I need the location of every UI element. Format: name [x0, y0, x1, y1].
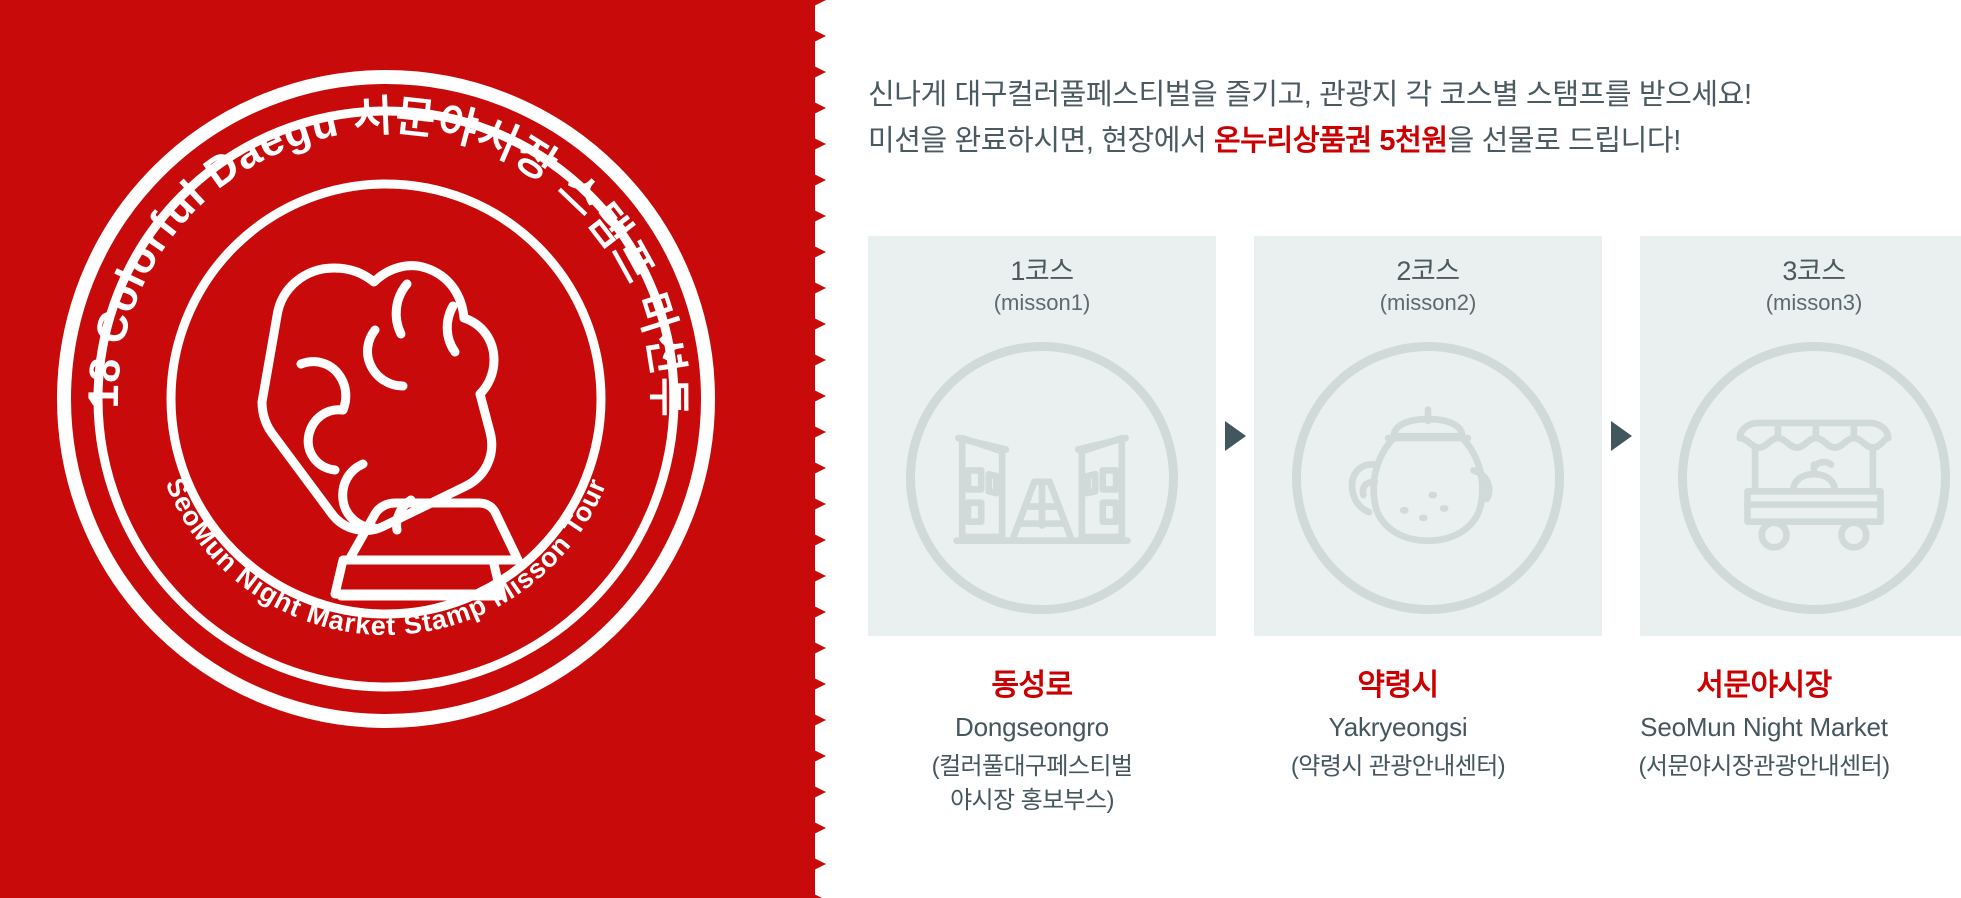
- course-3-labels: 서문야시장 SeoMun Night Market (서문야시장관광안내센터): [1600, 664, 1928, 784]
- zigzag-tooth: [790, 342, 826, 378]
- zigzag-tooth: [790, 126, 826, 162]
- course-2-location: (약령시 관광안내센터): [1234, 750, 1562, 784]
- zigzag-tooth: [790, 450, 826, 486]
- zigzag-tooth: [790, 630, 826, 666]
- course-3-location: (서문야시장관광안내센터): [1600, 750, 1928, 784]
- zigzag-tooth: [790, 414, 826, 450]
- zigzag-tooth: [790, 486, 826, 522]
- course-3-name-en: SeoMun Night Market: [1600, 708, 1928, 746]
- zigzag-tooth: [790, 594, 826, 630]
- course-1-icon-circle: [906, 342, 1178, 614]
- course-1-labels: 동성로 Dongseongro (컬러풀대구페스티벌 야시장 홍보부스): [868, 664, 1196, 818]
- zigzag-tooth: [790, 558, 826, 594]
- course-2-number: 2코스: [1254, 254, 1602, 288]
- course-cards-row: 1코스 (misson1): [868, 236, 1928, 656]
- course-2-icon-circle: [1292, 342, 1564, 614]
- course-1-name-en: Dongseongro: [868, 708, 1196, 746]
- zigzag-tooth: [790, 270, 826, 306]
- zigzag-tooth: [790, 522, 826, 558]
- intro-line-2-after: 을 선물로 드립니다!: [1448, 125, 1681, 157]
- arrow-1-to-2: [1216, 236, 1254, 636]
- fist-stamp-icon: [262, 266, 518, 596]
- content-area: 신나게 대구컬러풀페스티벌을 즐기고, 관광지 각 코스별 스탬프를 받으세요!…: [860, 0, 1961, 898]
- teapot-icon: [1333, 383, 1523, 573]
- course-card-2[interactable]: 2코스 (misson2): [1254, 236, 1602, 636]
- course-1-location: (컬러풀대구페스티벌 야시장 홍보부스): [868, 750, 1196, 818]
- zigzag-tooth: [790, 810, 826, 846]
- course-1-mission: (misson1): [868, 288, 1216, 318]
- course-card-3-header: 3코스 (misson3): [1640, 236, 1961, 318]
- arrow-2-to-3: [1602, 236, 1640, 636]
- course-card-3[interactable]: 3코스 (misson3): [1640, 236, 1961, 636]
- market-stall-cart-icon: [1719, 383, 1909, 573]
- course-card-1[interactable]: 1코스 (misson1): [868, 236, 1216, 636]
- zigzag-tooth: [790, 198, 826, 234]
- zigzag-tooth: [790, 666, 826, 702]
- course-2-labels: 약령시 Yakryeongsi (약령시 관광안내센터): [1234, 664, 1562, 784]
- zigzag-tooth: [790, 18, 826, 54]
- zigzag-tooth: [790, 378, 826, 414]
- course-3-name-ko: 서문야시장: [1600, 664, 1928, 708]
- arrow-right-icon: [1611, 421, 1632, 451]
- course-column-2: 2코스 (misson2): [1254, 236, 1602, 636]
- zigzag-tooth: [790, 882, 826, 898]
- course-3-icon-circle: [1678, 342, 1950, 614]
- zigzag-tooth: [790, 54, 826, 90]
- zigzag-tooth: [790, 90, 826, 126]
- zigzag-tooth: [790, 846, 826, 882]
- intro-line-2: 미션을 완료하시면, 현장에서 온누리상품권 5천원을 선물로 드립니다!: [868, 118, 1928, 164]
- zigzag-tooth: [790, 774, 826, 810]
- course-3-mission: (misson3): [1640, 288, 1961, 318]
- zigzag-tooth: [790, 702, 826, 738]
- course-3-number: 3코스: [1640, 254, 1961, 288]
- intro-paragraph: 신나게 대구컬러풀페스티벌을 즐기고, 관광지 각 코스별 스탬프를 받으세요!…: [868, 72, 1928, 164]
- zigzag-tooth: [790, 738, 826, 774]
- course-card-1-header: 1코스 (misson1): [868, 236, 1216, 318]
- zigzag-edge: [790, 0, 830, 898]
- course-2-mission: (misson2): [1254, 288, 1602, 318]
- zigzag-tooth: [790, 234, 826, 270]
- arrow-right-icon: [1225, 421, 1246, 451]
- course-2-name-en: Yakryeongsi: [1234, 708, 1562, 746]
- course-column-1: 1코스 (misson1): [868, 236, 1216, 636]
- gift-voucher-highlight: 온누리상품권 5천원: [1214, 125, 1448, 157]
- stamp-seal: 2018 Colorful Daegu 서문야시장 스탬프 미션투어 SeoMu…: [55, 68, 717, 730]
- zigzag-tooth: [790, 0, 826, 18]
- poster-root: 2018 Colorful Daegu 서문야시장 스탬프 미션투어 SeoMu…: [0, 0, 1961, 898]
- course-labels-row: 동성로 Dongseongro (컬러풀대구페스티벌 야시장 홍보부스) 약령시…: [868, 664, 1928, 818]
- course-1-number: 1코스: [868, 254, 1216, 288]
- zigzag-tooth: [790, 306, 826, 342]
- intro-line-1: 신나게 대구컬러풀페스티벌을 즐기고, 관광지 각 코스별 스탬프를 받으세요!: [868, 72, 1928, 118]
- street-buildings-icon: [947, 383, 1137, 573]
- zigzag-tooth: [790, 162, 826, 198]
- course-card-2-header: 2코스 (misson2): [1254, 236, 1602, 318]
- course-column-3: 3코스 (misson3): [1640, 236, 1961, 636]
- course-1-name-ko: 동성로: [868, 664, 1196, 708]
- intro-line-2-before: 미션을 완료하시면, 현장에서: [868, 125, 1214, 157]
- course-2-name-ko: 약령시: [1234, 664, 1562, 708]
